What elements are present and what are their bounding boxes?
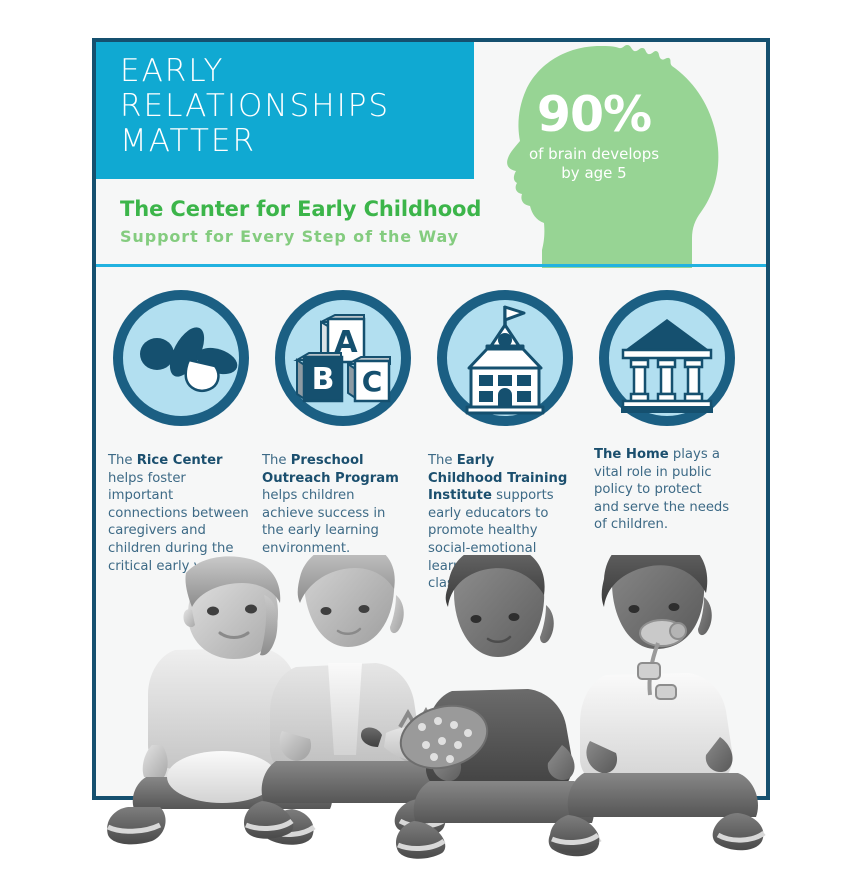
header-band: EARLY RELATIONSHIPS MATTER The Center fo…: [96, 42, 766, 264]
caption-bold: The Home: [594, 447, 669, 462]
icon-circle-baby: [111, 288, 251, 428]
government-building-icon: [597, 288, 737, 428]
section-divider: [96, 264, 766, 267]
caption-preschool-outreach: The Preschool Outreach Program helps chi…: [262, 452, 404, 558]
svg-text:C: C: [362, 365, 383, 398]
icon-circle-schoolhouse: [435, 288, 575, 428]
icon-circle-abc-blocks: A C B: [273, 288, 413, 428]
stat-line-1: of brain develops: [496, 145, 692, 164]
brain-stat-callout: 90% of brain develops by age 5: [496, 42, 726, 268]
svg-text:B: B: [312, 362, 335, 397]
baby-icon: [111, 288, 251, 428]
caption-lead: The: [428, 453, 457, 468]
organization-tagline: Support for Every Step of the Way: [120, 227, 459, 246]
schoolhouse-icon: [435, 288, 575, 428]
caption-rest: helps children achieve success in the ea…: [262, 488, 385, 556]
children-photo: [100, 555, 780, 860]
abc-blocks-icon: A C B: [273, 288, 413, 428]
organization-headline: The Center for Early Childhood: [120, 197, 481, 221]
caption-the-home: The Home plays a vital role in public po…: [594, 446, 730, 534]
child-4: [550, 555, 764, 853]
hero-title: EARLY RELATIONSHIPS MATTER: [120, 54, 470, 159]
caption-lead: The: [262, 453, 291, 468]
icon-circle-government-building: [597, 288, 737, 428]
stat-number: 90%: [496, 90, 692, 139]
icon-row: A C B: [96, 280, 766, 445]
stat-line-2: by age 5: [496, 164, 692, 183]
caption-lead: The: [108, 453, 137, 468]
caption-bold: Rice Center: [137, 453, 223, 468]
